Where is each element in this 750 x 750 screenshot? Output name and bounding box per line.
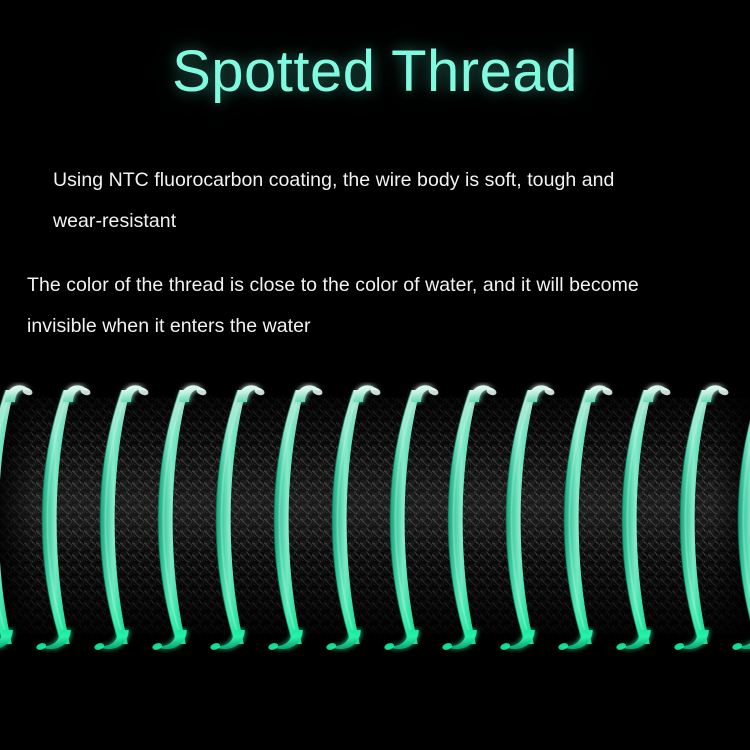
page-title-text: Spotted Thread [172, 38, 578, 106]
product-photo: Close-up of teal fluorocarbon fishing li… [0, 372, 750, 662]
paragraph-coating: Using NTC fluorocarbon coating, the wire… [53, 160, 614, 242]
paragraph-color: The color of the thread is close to the … [27, 265, 639, 347]
paragraph-color-line-2: invisible when it enters the water [27, 306, 639, 347]
paragraph-color-line-1: The color of the thread is close to the … [27, 265, 639, 306]
product-photo-inner: Close-up of teal fluorocarbon fishing li… [0, 372, 750, 662]
paragraph-coating-line-1: Using NTC fluorocarbon coating, the wire… [53, 160, 614, 201]
page-title: Spotted Thread [0, 38, 750, 106]
paragraph-coating-line-2: wear-resistant [53, 201, 614, 242]
fishing-line-spool-illustration [0, 372, 750, 662]
product-banner: Spotted Thread Using NTC fluorocarbon co… [0, 0, 750, 750]
